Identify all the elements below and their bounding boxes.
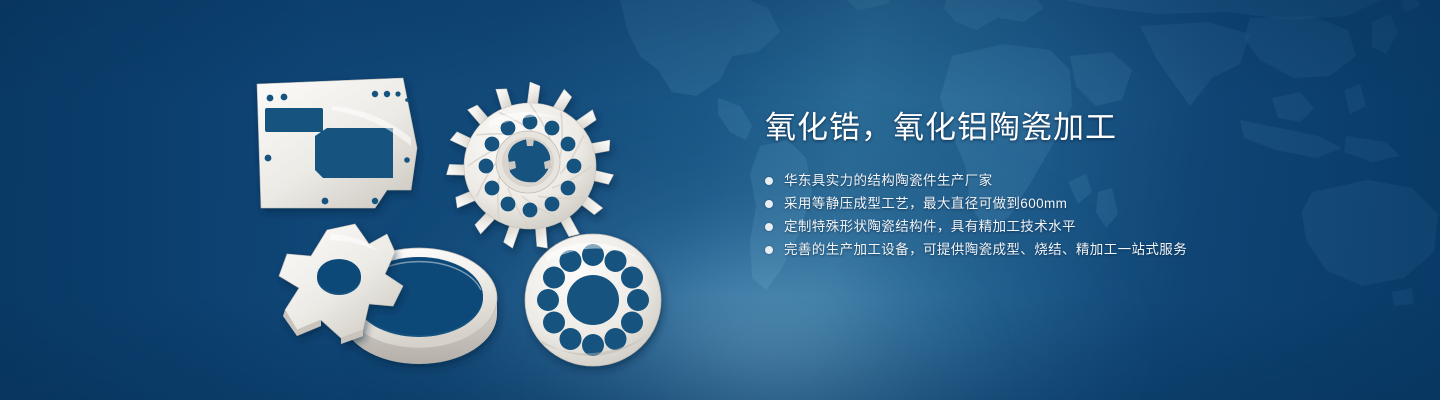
- list-item: 华东具实力的结构陶瓷件生产厂家: [765, 170, 1365, 192]
- ceramic-impeller: [445, 82, 613, 250]
- banner-copy: 氧化锆，氧化铝陶瓷加工 华东具实力的结构陶瓷件生产厂家 采用等静压成型工艺，最大…: [765, 108, 1365, 262]
- feature-text: 完善的生产加工设备，可提供陶瓷成型、烧结、精加工一站式服务: [784, 239, 1187, 261]
- feature-text: 华东具实力的结构陶瓷件生产厂家: [784, 170, 993, 192]
- feature-text: 采用等静压成型工艺，最大直径可做到600mm: [784, 193, 1067, 215]
- list-item: 采用等静压成型工艺，最大直径可做到600mm: [765, 193, 1365, 215]
- bullet-dot-icon: [765, 177, 773, 185]
- feature-list: 华东具实力的结构陶瓷件生产厂家 采用等静压成型工艺，最大直径可做到600mm 定…: [765, 170, 1365, 261]
- hero-banner: 氧化锆，氧化铝陶瓷加工 华东具实力的结构陶瓷件生产厂家 采用等静压成型工艺，最大…: [0, 0, 1440, 400]
- ceramic-plate: [257, 78, 417, 208]
- bullet-dot-icon: [765, 200, 773, 208]
- ceramic-perforated-disc: [525, 234, 661, 366]
- list-item: 定制特殊形状陶瓷结构件，具有精加工技术水平: [765, 216, 1365, 238]
- bullet-dot-icon: [765, 246, 773, 254]
- feature-text: 定制特殊形状陶瓷结构件，具有精加工技术水平: [784, 216, 1076, 238]
- page-title: 氧化锆，氧化铝陶瓷加工: [765, 108, 1365, 148]
- bullet-dot-icon: [765, 223, 773, 231]
- list-item: 完善的生产加工设备，可提供陶瓷成型、烧结、精加工一站式服务: [765, 239, 1365, 261]
- product-photo-collage: [235, 38, 705, 390]
